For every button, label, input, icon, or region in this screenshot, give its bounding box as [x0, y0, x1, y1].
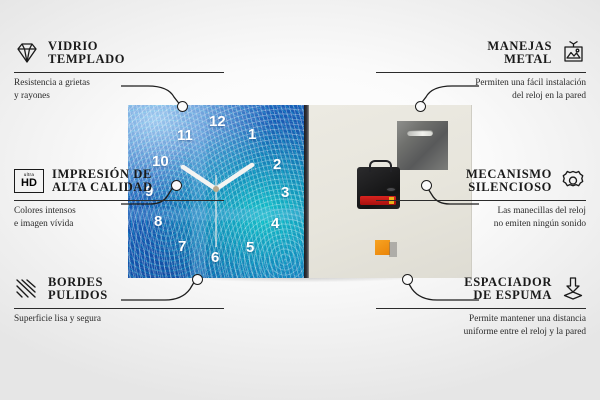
feature-rule — [376, 308, 586, 309]
wall-hanger-plate-icon — [560, 41, 586, 65]
badge-label-big: HD — [21, 178, 37, 189]
ultra-hd-badge-icon: ultra HD — [14, 169, 44, 193]
feature-description: Las manecillas del relojno emiten ningún… — [376, 205, 586, 231]
feature-rule — [14, 72, 224, 73]
gear-icon — [560, 169, 586, 193]
feature-rule — [14, 200, 224, 201]
infographic-canvas: 12 1 2 3 4 5 6 7 8 9 10 11 — [0, 0, 600, 400]
foam-spacer-arrow-icon — [560, 277, 586, 301]
feature-rule — [376, 200, 586, 201]
feature-description: Permiten una fácil instalacióndel reloj … — [376, 77, 586, 103]
feature-description: Colores intensose imagen vívida — [14, 205, 224, 231]
feature-title-line1: IMPRESIÓN DE — [52, 168, 153, 181]
feature-espaciador-espuma: ESPACIADOR DE ESPUMA Permite mantener un… — [376, 276, 586, 339]
feature-title-line2: SILENCIOSO — [468, 181, 552, 194]
feature-rule — [376, 72, 586, 73]
feature-title-line2: ALTA CALIDAD — [52, 181, 153, 194]
feature-title-line2: METAL — [504, 53, 552, 66]
feature-description: Permite mantener una distanciauniforme e… — [376, 313, 586, 339]
diamond-icon — [14, 41, 40, 65]
feature-title-line1: BORDES — [48, 276, 108, 289]
feature-bordes-pulidos: BORDES PULIDOS Superficie lisa y segura — [14, 276, 224, 326]
feature-vidrio-templado: VIDRIO TEMPLADO Resistencia a grietasy r… — [14, 40, 224, 103]
feature-title-line1: ESPACIADOR — [464, 276, 552, 289]
feature-title-line1: MECANISMO — [466, 168, 552, 181]
feature-title-line1: VIDRIO — [48, 40, 125, 53]
feature-title-line2: DE ESPUMA — [473, 289, 552, 302]
polished-edges-icon — [14, 277, 40, 301]
feature-title-line2: TEMPLADO — [48, 53, 125, 66]
feature-title-line2: PULIDOS — [48, 289, 108, 302]
feature-rule — [14, 308, 224, 309]
feature-title-line1: MANEJAS — [487, 40, 552, 53]
feature-impresion-alta-calidad: ultra HD IMPRESIÓN DE ALTA CALIDAD Color… — [14, 168, 224, 231]
feature-mecanismo-silencioso: MECANISMO SILENCIOSO Las manecillas del … — [376, 168, 586, 231]
feature-description: Superficie lisa y segura — [14, 313, 224, 326]
feature-description: Resistencia a grietasy rayones — [14, 77, 224, 103]
feature-manejas-metal: MANEJAS METAL Permiten una fácil instala… — [376, 40, 586, 103]
